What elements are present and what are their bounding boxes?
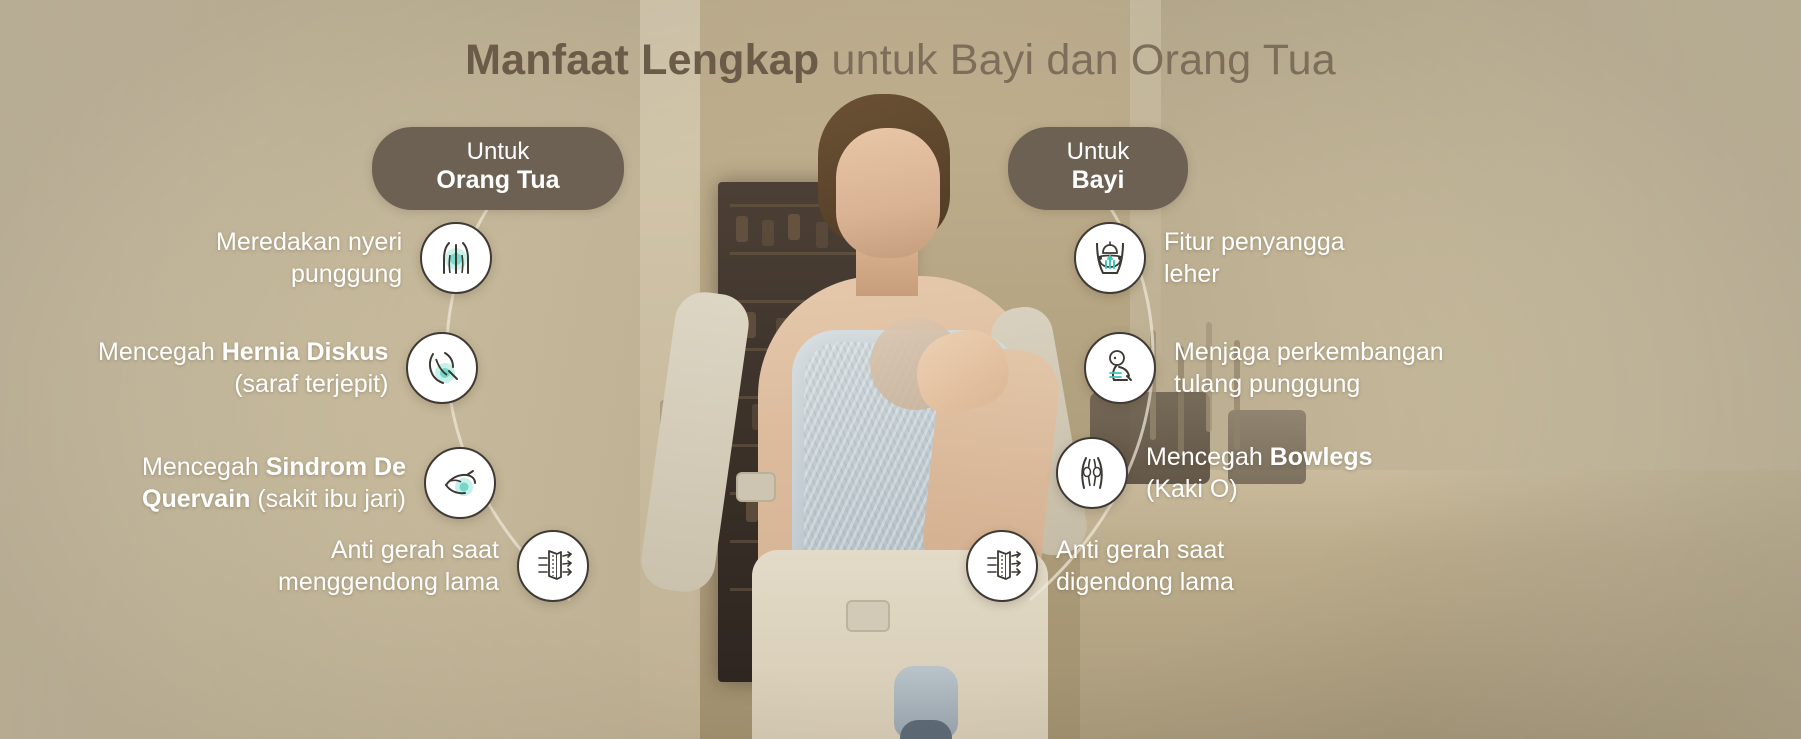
benefit-line-2: digendong lama <box>1056 568 1234 596</box>
section-badge-parent[interactable]: Untuk Orang Tua <box>372 127 624 210</box>
benefit-line-1-bold: Hernia Diskus <box>222 338 389 366</box>
benefit-item-baby-3[interactable]: Mencegah Bowlegs (Kaki O) <box>1056 437 1373 509</box>
benefit-item-parent-3[interactable]: Mencegah Sindrom De Quervain (sakit ibu … <box>142 447 496 519</box>
breathable-mesh-icon <box>966 530 1038 602</box>
benefit-line-2-post: (Kaki O) <box>1146 475 1238 503</box>
benefit-line-2: menggendong lama <box>278 568 499 596</box>
benefit-item-parent-4[interactable]: Anti gerah saat menggendong lama <box>278 530 589 602</box>
benefit-label-parent-2: Mencegah Hernia Diskus (saraf terjepit) <box>98 336 388 400</box>
benefit-line-1-bold: Bowlegs <box>1270 443 1373 471</box>
benefit-item-baby-1[interactable]: Fitur penyangga leher <box>1074 222 1345 294</box>
benefit-item-baby-4[interactable]: Anti gerah saat digendong lama <box>966 530 1234 602</box>
benefit-label-baby-2: Menjaga perkembangan tulang punggung <box>1174 336 1444 400</box>
benefit-line-2-post: (sakit ibu jari) <box>250 485 406 513</box>
benefit-line-1: Meredakan nyeri <box>216 228 402 256</box>
section-badge-parent-top: Untuk <box>406 138 590 166</box>
page-title: Manfaat Lengkap untuk Bayi dan Orang Tua <box>0 36 1801 85</box>
page-title-highlight: Manfaat Lengkap <box>465 36 819 84</box>
benefit-label-parent-4: Anti gerah saat menggendong lama <box>278 534 499 598</box>
benefit-line-2: punggung <box>291 260 402 288</box>
benefit-item-parent-2[interactable]: Mencegah Hernia Diskus (saraf terjepit) <box>98 332 478 404</box>
benefit-label-baby-3: Mencegah Bowlegs (Kaki O) <box>1146 441 1373 505</box>
benefit-label-parent-1: Meredakan nyeri punggung <box>216 226 402 290</box>
bowlegs-icon <box>1056 437 1128 509</box>
baby-spine-icon <box>1084 332 1156 404</box>
benefit-line-2: tulang punggung <box>1174 370 1360 398</box>
section-badge-parent-bottom: Orang Tua <box>406 166 590 196</box>
benefits-infographic: Manfaat Lengkap untuk Bayi dan Orang Tua… <box>0 0 1801 739</box>
benefit-line-1: Anti gerah saat <box>331 536 499 564</box>
neck-support-icon <box>1074 222 1146 294</box>
benefit-line-1: Menjaga perkembangan <box>1174 338 1444 366</box>
page-title-rest: untuk Bayi dan Orang Tua <box>819 36 1336 84</box>
section-badge-baby[interactable]: Untuk Bayi <box>1008 127 1188 210</box>
benefit-line-1-pre: Mencegah <box>1146 443 1270 471</box>
benefit-line-1: Fitur penyangga <box>1164 228 1345 256</box>
benefit-line-1-pre: Mencegah <box>98 338 222 366</box>
benefit-item-parent-1[interactable]: Meredakan nyeri punggung <box>216 222 492 294</box>
benefit-item-baby-2[interactable]: Menjaga perkembangan tulang punggung <box>1084 332 1444 404</box>
section-badge-baby-bottom: Bayi <box>1042 166 1154 196</box>
benefit-line-2-bold: Quervain <box>142 485 250 513</box>
benefit-label-baby-1: Fitur penyangga leher <box>1164 226 1345 290</box>
benefit-line-2-post: (saraf terjepit) <box>234 370 388 398</box>
benefit-label-parent-3: Mencegah Sindrom De Quervain (sakit ibu … <box>142 451 406 515</box>
benefit-line-1-bold: Sindrom De <box>266 453 406 481</box>
benefit-line-2: leher <box>1164 260 1220 288</box>
benefit-line-1: Anti gerah saat <box>1056 536 1224 564</box>
back-pain-icon <box>420 222 492 294</box>
breathable-mesh-icon <box>517 530 589 602</box>
benefit-label-baby-4: Anti gerah saat digendong lama <box>1056 534 1234 598</box>
thumb-pain-icon <box>424 447 496 519</box>
benefit-line-1-pre: Mencegah <box>142 453 266 481</box>
section-badge-baby-top: Untuk <box>1042 138 1154 166</box>
herniated-disc-icon <box>406 332 478 404</box>
